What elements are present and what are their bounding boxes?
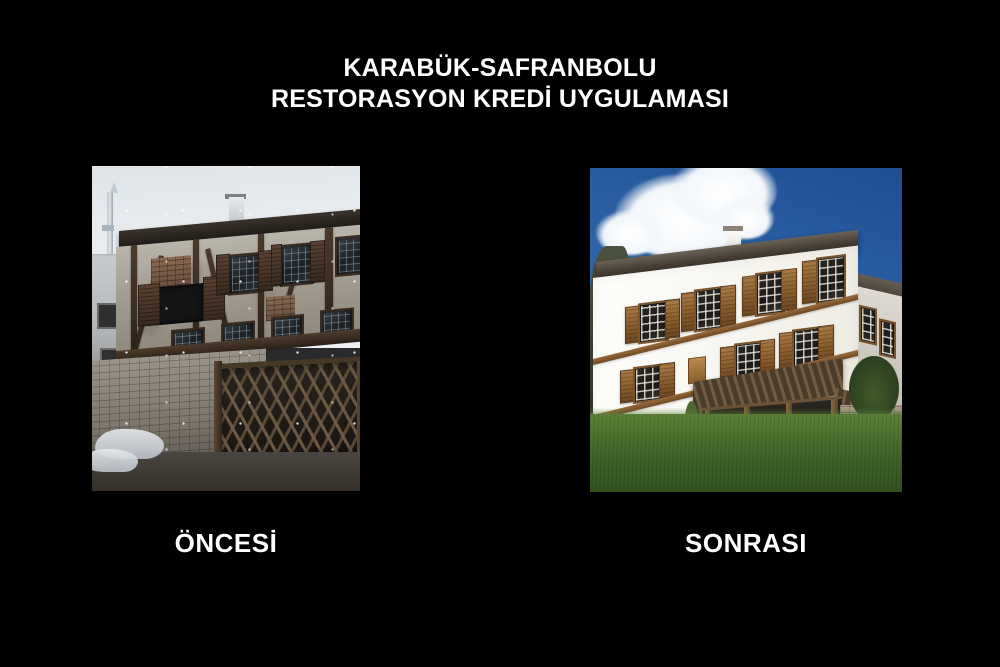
corner-post (357, 361, 360, 459)
after-caption: SONRASI (590, 528, 902, 559)
window (860, 304, 878, 345)
snow-patch (92, 449, 138, 472)
window-panes (758, 273, 783, 315)
window-panes (697, 289, 722, 329)
before-scene (92, 166, 360, 491)
shutter (216, 253, 230, 296)
window-panes (232, 256, 258, 292)
window-panes (339, 239, 360, 274)
shutter (720, 285, 735, 328)
window-panes (819, 258, 844, 301)
window-panes (636, 367, 661, 401)
window-panes (285, 247, 311, 283)
before-caption: ÖNCESİ (92, 528, 360, 559)
window-panes (882, 321, 894, 355)
window-panes (641, 304, 666, 342)
shutter (311, 240, 325, 283)
broken-shutter (139, 283, 161, 327)
shutter (665, 299, 680, 340)
slide-title: KARABÜK-SAFRANBOLU RESTORASYON KREDİ UYG… (0, 53, 1000, 115)
title-line-1: KARABÜK-SAFRANBOLU (0, 53, 1000, 84)
lawn (590, 414, 902, 492)
window-panes (863, 308, 875, 342)
presentation-slide: KARABÜK-SAFRANBOLU RESTORASYON KREDİ UYG… (0, 0, 1000, 667)
wooden-lattice-screen (218, 357, 360, 461)
chimney-cap (723, 226, 743, 231)
shutter (659, 362, 674, 399)
window (335, 234, 360, 277)
title-line-2: RESTORASYON KREDİ UYGULAMASI (0, 84, 1000, 115)
shutter (271, 244, 283, 287)
after-photo (590, 168, 902, 492)
before-photo (92, 166, 360, 491)
minaret-balcony (102, 225, 114, 231)
after-scene (590, 168, 902, 492)
corner-post (214, 361, 222, 459)
chimney (229, 197, 244, 221)
broken-window-opening (156, 283, 203, 325)
window (879, 318, 897, 359)
minaret-cap (110, 182, 118, 193)
window (228, 252, 262, 297)
shutter (781, 268, 796, 312)
